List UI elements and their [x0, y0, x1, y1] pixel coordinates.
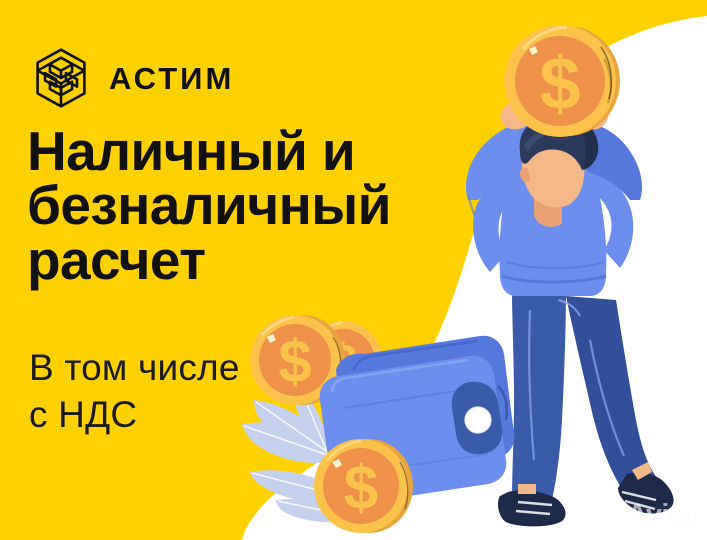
- dollar-coin-large: $: [501, 19, 625, 143]
- brand-name: АСТИМ: [109, 63, 234, 94]
- dollar-coin-wallet-front: $: [311, 434, 415, 538]
- svg-text:$: $: [539, 42, 580, 125]
- brand-logo: АСТИМ: [30, 46, 234, 110]
- avito-watermark-text: Avito: [627, 501, 695, 530]
- avito-dots-icon: [597, 503, 623, 529]
- avito-watermark: Avito: [597, 501, 695, 530]
- isometric-cube-logo-icon: [30, 46, 92, 110]
- promo-banner: АСТИМ Наличный и безналичный расчет В то…: [0, 0, 707, 540]
- subheadline: В том числе с НДС: [29, 344, 240, 439]
- headline: Наличный и безналичный расчет: [27, 124, 391, 287]
- svg-text:$: $: [344, 454, 378, 523]
